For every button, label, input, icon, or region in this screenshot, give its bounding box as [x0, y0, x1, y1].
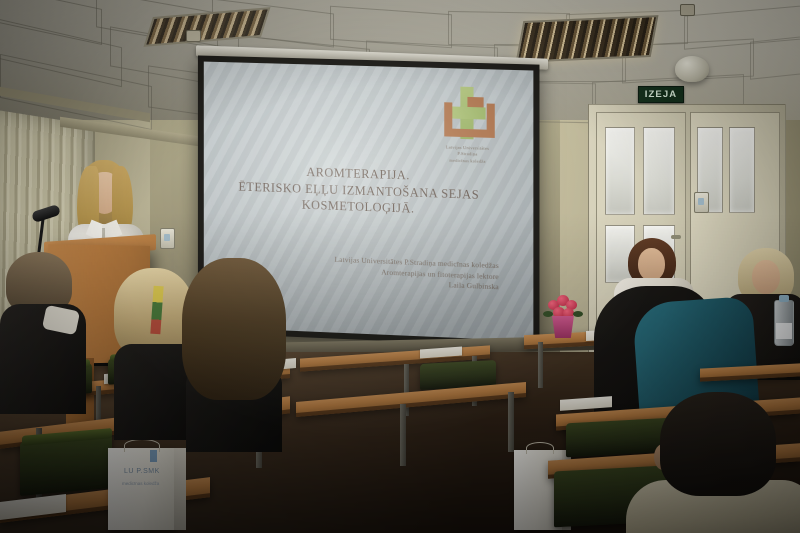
exit-sign: IZEJA: [638, 86, 684, 103]
attendee-brunette-back-view: [176, 258, 294, 448]
classroom-photo: IZEJA Latvijas Universitātes P.Stradiņa …: [0, 0, 800, 533]
desk-leg: [538, 342, 543, 388]
wall-light-switch[interactable]: [160, 228, 175, 249]
ceiling-light-grille: [515, 15, 658, 63]
door-wall-switch[interactable]: [694, 192, 709, 213]
door-glass-pane: [643, 127, 675, 215]
water-bottle: [774, 300, 794, 346]
attendee-left-back-view: [0, 252, 84, 412]
attendee-foreground-cream-jacket: [648, 392, 798, 533]
slide-author-block: Latvijas Universitātes P.Stradiņa medicī…: [286, 253, 498, 293]
ceiling-speaker-icon: [186, 30, 201, 42]
dome-wall-lamp: [675, 56, 709, 82]
college-logo-icon: [440, 86, 493, 142]
desk-leg: [508, 392, 514, 452]
slide-title: AROMTERAPIJA. ĒTERISKO EĻĻU IZMANTOŠANA …: [221, 161, 496, 220]
exit-sign-label: IZEJA: [645, 89, 677, 100]
door-glass-pane: [605, 127, 635, 215]
ceiling-speaker-icon: [680, 4, 695, 16]
door-glass-pane: [729, 127, 755, 213]
desk-leg: [400, 404, 406, 466]
gift-bag: LU P.SMK medicīnas koledža: [108, 448, 174, 530]
logo-caption: Latvijas Universitātes P.Stradiņa medicī…: [424, 144, 511, 166]
